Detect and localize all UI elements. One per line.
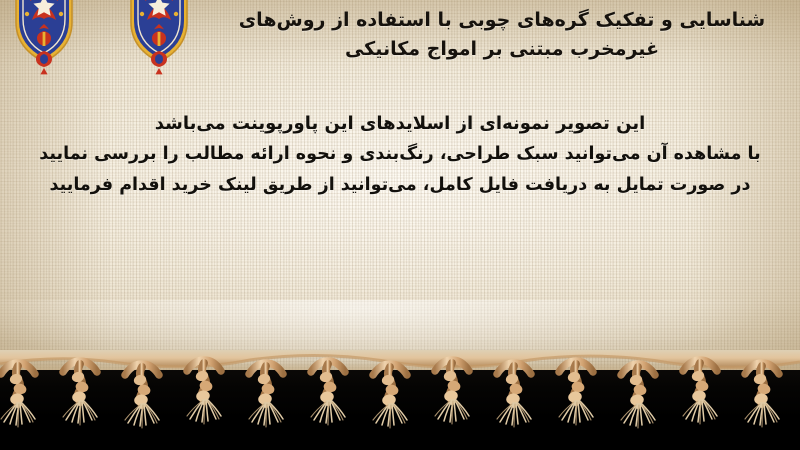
bottom-black-band <box>0 370 800 450</box>
slide-body: این تصویر نمونه‌ای از اسلایدهای این پاور… <box>0 108 800 200</box>
title-line-1: شناسایی و تفکیک گره‌های چوبی با استفاده … <box>239 9 765 31</box>
body-line-2: با مشاهده آن می‌توانید سبک طراحی، رنگ‌بن… <box>0 139 800 169</box>
body-line-3: در صورت تمایل به دریافت فایل کامل، می‌تو… <box>0 170 800 200</box>
body-line-1: این تصویر نمونه‌ای از اسلایدهای این پاور… <box>0 108 800 139</box>
slide-canvas: شناسایی و تفکیک گره‌های چوبی با استفاده … <box>0 0 800 450</box>
title-line-2: غیرمخرب مبتنی بر امواج مکانیکی <box>345 38 659 60</box>
page-title: شناسایی و تفکیک گره‌های چوبی با استفاده … <box>222 6 782 64</box>
